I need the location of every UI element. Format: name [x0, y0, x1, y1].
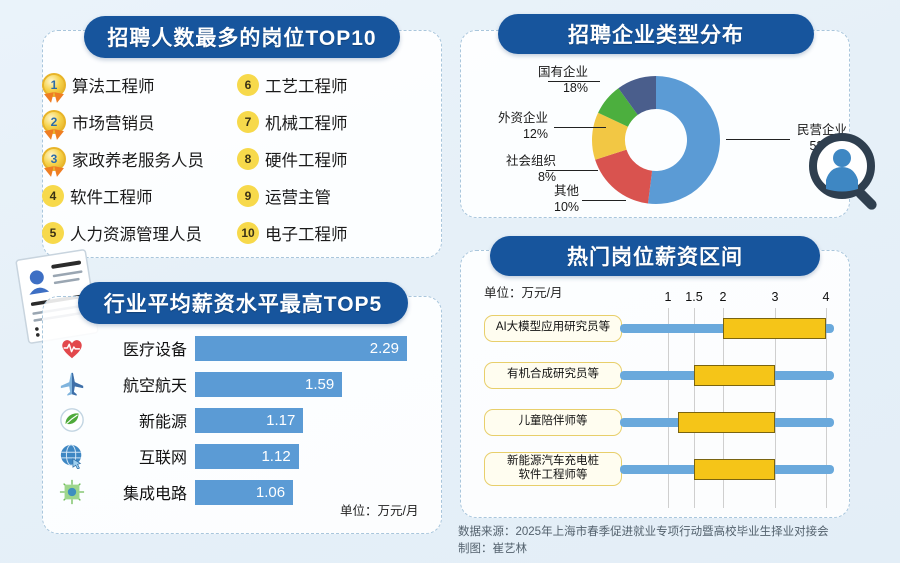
job-title-label: 工艺工程师 [265, 73, 348, 97]
salary-range-chart: 11.5234AI大模型应用研究员等有机合成研究员等儿童陪伴师等新能源汽车充电桩… [460, 250, 850, 518]
donut-label: 其他10% [554, 184, 579, 215]
job-rank-item: 7机械工程师 [237, 110, 412, 134]
panel-industry-salary-title: 行业平均薪资水平最高TOP5 [78, 282, 408, 324]
job-rank-item: 8硬件工程师 [237, 147, 412, 171]
industry-salary-value: 1.06 [256, 484, 285, 501]
job-rank-item: 2市场营销员 [42, 110, 237, 134]
job-title-label: 机械工程师 [265, 110, 348, 134]
industry-salary-bar: 1.59 [195, 372, 342, 397]
salary-range-box [694, 365, 775, 386]
rank-badge-icon: 8 [237, 148, 259, 170]
industry-salary-value: 2.29 [370, 340, 399, 357]
salary-range-box [678, 412, 775, 433]
job-rank-item: 4软件工程师 [42, 184, 237, 208]
magnifier-person-icon [806, 130, 892, 216]
donut-label-value: 18% [538, 81, 588, 97]
axis-gridline [668, 308, 669, 508]
job-rank-item: 5人力资源管理人员 [42, 221, 237, 245]
industry-name-label: 互联网 [89, 444, 195, 468]
industry-salary-row: 新能源1.17 [55, 402, 435, 438]
salary-range-job-label: AI大模型应用研究员等 [484, 315, 622, 342]
salary-range-job-label-text: 儿童陪伴师等 [519, 415, 588, 429]
chip-circuit-icon [55, 479, 89, 505]
job-title-label: 硬件工程师 [265, 147, 348, 171]
axis-tick-label: 2 [720, 290, 727, 304]
top10-job-list: 1算法工程师6工艺工程师2市场营销员7机械工程师3家政养老服务人员8硬件工程师4… [42, 66, 442, 256]
salary-range-job-label-text: 新能源汽车充电桩软件工程师等 [507, 455, 599, 483]
rank-badge-icon: 4 [42, 185, 64, 207]
medal-badge-icon: 3 [42, 147, 66, 171]
donut-label-name: 社会组织 [506, 154, 556, 170]
donut-slice [595, 150, 652, 204]
axis-tick-label: 1.5 [685, 290, 702, 304]
industry-name-label: 航空航天 [89, 372, 195, 396]
axis-tick-label: 4 [823, 290, 830, 304]
job-rank-item: 1算法工程师 [42, 73, 237, 97]
donut-leader-line [554, 127, 606, 128]
job-title-label: 软件工程师 [70, 184, 153, 208]
job-rank-item: 6工艺工程师 [237, 73, 412, 97]
donut-leader-line [546, 170, 598, 171]
industry-salary-value: 1.12 [261, 448, 290, 465]
salary-range-job-label: 儿童陪伴师等 [484, 409, 622, 436]
medal-badge-icon: 2 [42, 110, 66, 134]
footer-credit: 制图：崔艺林 [458, 541, 898, 558]
panel-top10-title: 招聘人数最多的岗位TOP10 [84, 16, 400, 58]
salary-range-job-label-text: AI大模型应用研究员等 [496, 321, 610, 335]
donut-label: 外资企业12% [498, 111, 548, 142]
donut-label-value: 12% [498, 127, 548, 143]
industry-name-label: 新能源 [89, 408, 195, 432]
industry-salary-value: 1.17 [266, 412, 295, 429]
donut-label-value: 8% [506, 170, 556, 186]
industry-salary-row: 航空航天1.59 [55, 366, 435, 402]
footer-credits: 数据来源：2025年上海市春季促进就业专项行动暨高校毕业生择业对接会 制图：崔艺… [458, 524, 898, 559]
globe-internet-icon [55, 443, 89, 469]
donut-slice [648, 76, 720, 204]
donut-leader-line [582, 200, 626, 201]
rank-badge-icon: 5 [42, 222, 64, 244]
salary-range-box [723, 318, 826, 339]
rank-badge-icon: 10 [237, 222, 259, 244]
heart-pulse-icon [55, 335, 89, 361]
job-rank-item: 9运营主管 [237, 184, 412, 208]
job-title-label: 市场营销员 [72, 110, 155, 134]
airplane-icon [55, 371, 89, 397]
panel-salary-range-title: 热门岗位薪资区间 [490, 236, 820, 276]
salary-range-job-label-text: 有机合成研究员等 [507, 368, 599, 382]
industry-salary-bar: 2.29 [195, 336, 407, 361]
donut-leader-line [548, 81, 600, 82]
medal-badge-icon: 1 [42, 73, 66, 97]
industry-salary-bars: 医疗设备2.29航空航天1.59新能源1.17互联网1.12集成电路1.06 [55, 330, 435, 520]
axis-tick-label: 1 [665, 290, 672, 304]
job-rank-item: 3家政养老服务人员 [42, 147, 237, 171]
job-rank-item: 10电子工程师 [237, 221, 412, 245]
job-title-label: 家政养老服务人员 [72, 147, 204, 171]
industry-name-label: 集成电路 [89, 480, 195, 504]
industry-salary-row: 互联网1.12 [55, 438, 435, 474]
salary-range-box [694, 459, 775, 480]
job-title-label: 算法工程师 [72, 73, 155, 97]
industry-name-label: 医疗设备 [89, 336, 195, 360]
industry-salary-bar: 1.12 [195, 444, 299, 469]
panel-company-types-title: 招聘企业类型分布 [498, 14, 814, 54]
salary-range-job-label: 新能源汽车充电桩软件工程师等 [484, 452, 622, 486]
leaf-energy-icon [55, 407, 89, 433]
industry-salary-value: 1.59 [305, 376, 334, 393]
job-title-label: 电子工程师 [265, 221, 348, 245]
job-title-label: 人力资源管理人员 [70, 221, 202, 245]
salary-range-job-label: 有机合成研究员等 [484, 362, 622, 389]
industry-salary-bar: 1.06 [195, 480, 293, 505]
industry-salary-bar: 1.17 [195, 408, 303, 433]
rank-badge-icon: 6 [237, 74, 259, 96]
rank-badge-icon: 7 [237, 111, 259, 133]
industry-salary-row: 医疗设备2.29 [55, 330, 435, 366]
infographic-page: 招聘人数最多的岗位TOP10 1算法工程师6工艺工程师2市场营销员7机械工程师3… [0, 0, 900, 563]
industry-salary-unit-label: 单位：万元/月 [340, 500, 418, 519]
donut-label-name: 外资企业 [498, 111, 548, 127]
donut-label-name: 国有企业 [538, 65, 588, 81]
axis-tick-label: 3 [772, 290, 779, 304]
job-title-label: 运营主管 [265, 184, 331, 208]
footer-source: 数据来源：2025年上海市春季促进就业专项行动暨高校毕业生择业对接会 [458, 524, 898, 541]
rank-badge-icon: 9 [237, 185, 259, 207]
donut-label-name: 其他 [554, 184, 579, 200]
donut-label-value: 10% [554, 200, 579, 216]
donut-leader-line [726, 139, 790, 140]
axis-gridline [826, 308, 827, 508]
